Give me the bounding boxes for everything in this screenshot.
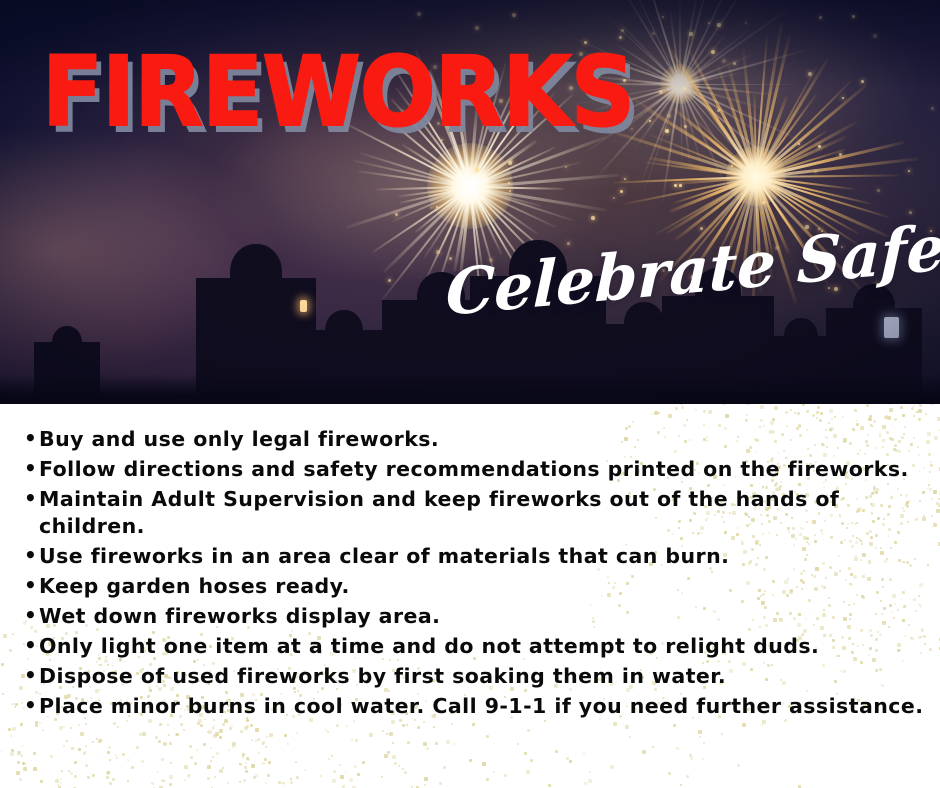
safety-tip-item: Wet down fireworks display area. bbox=[24, 603, 939, 630]
safety-tip-item: Buy and use only legal fireworks. bbox=[24, 426, 939, 453]
page-title: FIREWORKS bbox=[42, 44, 634, 140]
safety-tips-list: Buy and use only legal fireworks.Follow … bbox=[0, 404, 940, 723]
safety-tip-item: Maintain Adult Supervision and keep fire… bbox=[24, 486, 939, 540]
safety-tip-item: Use fireworks in an area clear of materi… bbox=[24, 543, 939, 570]
hero-fireworks-photo: FIREWORKS Celebrate Safely bbox=[0, 0, 940, 404]
safety-tips-panel: Buy and use only legal fireworks.Follow … bbox=[0, 404, 940, 788]
safety-tip-item: Place minor burns in cool water. Call 9-… bbox=[24, 693, 939, 720]
fireworks-safety-poster: FIREWORKS Celebrate Safely Buy and use o… bbox=[0, 0, 940, 788]
safety-tip-item: Only light one item at a time and do not… bbox=[24, 633, 939, 660]
safety-tip-item: Dispose of used fireworks by first soaki… bbox=[24, 663, 939, 690]
safety-tip-item: Follow directions and safety recommendat… bbox=[24, 456, 939, 483]
safety-tip-item: Keep garden hoses ready. bbox=[24, 573, 939, 600]
